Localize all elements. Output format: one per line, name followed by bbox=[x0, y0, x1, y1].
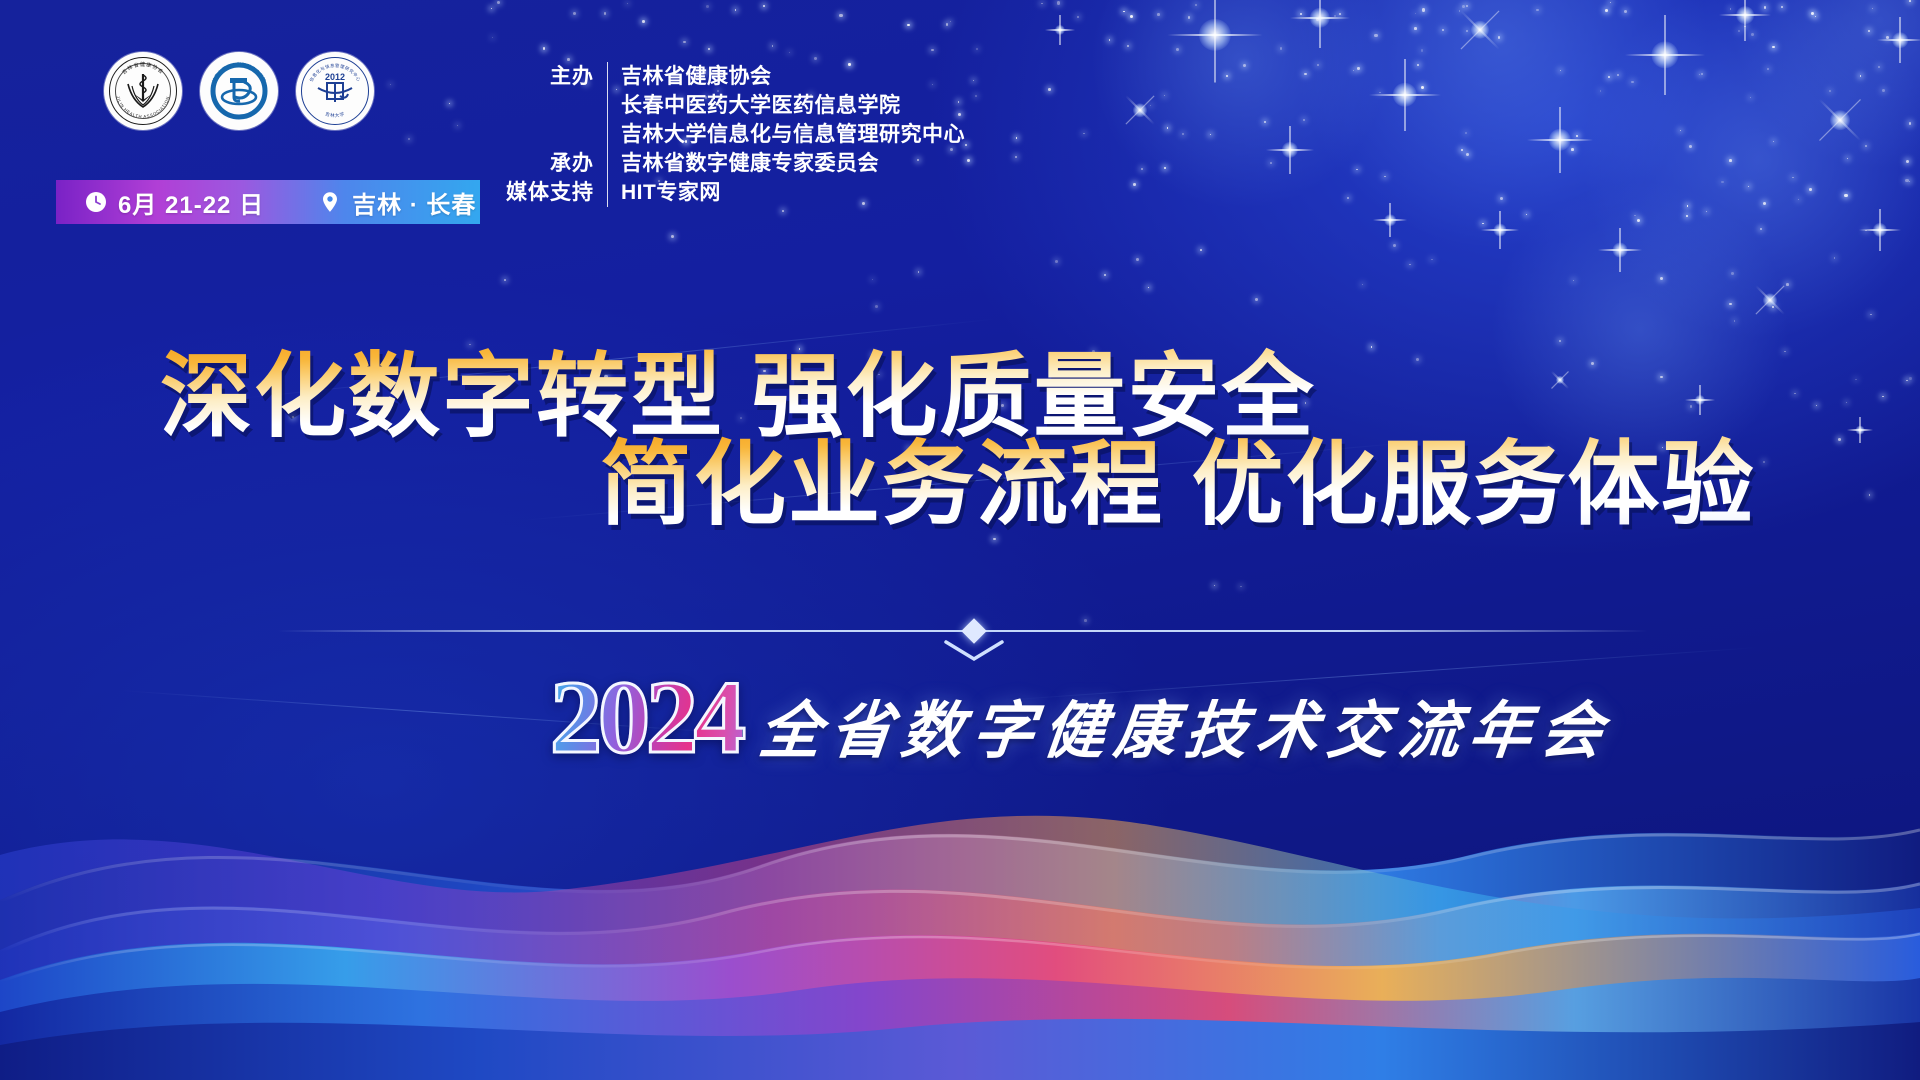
star-dot bbox=[1462, 5, 1465, 8]
star-dot bbox=[1729, 159, 1732, 162]
star-dot bbox=[1270, 162, 1272, 164]
star-dot bbox=[1748, 186, 1749, 187]
svg-text:吉林大学: 吉林大学 bbox=[324, 110, 345, 119]
star-dot bbox=[1214, 585, 1215, 586]
star-dot bbox=[1015, 156, 1017, 158]
star-dot bbox=[1660, 376, 1662, 378]
star-dot bbox=[671, 235, 674, 238]
star-dot bbox=[918, 271, 920, 273]
star-dot bbox=[975, 95, 978, 98]
star-dot bbox=[1730, 8, 1732, 10]
star-dot bbox=[1466, 30, 1468, 32]
star-dot bbox=[1417, 64, 1419, 66]
star-dot bbox=[763, 5, 765, 7]
star-dot bbox=[1500, 197, 1503, 200]
star-sparkle-icon bbox=[1625, 15, 1705, 95]
star-dot bbox=[1498, 36, 1501, 39]
conference-banner: 吉林省健康协会 JILIN HEALTH ASSOCIATION bbox=[0, 0, 1920, 1080]
jilin-health-association-logo: 吉林省健康协会 JILIN HEALTH ASSOCIATION bbox=[104, 52, 182, 130]
star-dot bbox=[1870, 314, 1872, 316]
star-dot bbox=[1729, 303, 1731, 305]
star-dot bbox=[1255, 298, 1258, 301]
star-dot bbox=[1422, 8, 1425, 11]
organizer-divider bbox=[607, 178, 608, 207]
star-dot bbox=[1466, 153, 1469, 156]
star-dot bbox=[1882, 396, 1884, 398]
star-dot bbox=[1482, 223, 1484, 225]
star-dot bbox=[1634, 215, 1635, 216]
star-sparkle-icon bbox=[1442, 0, 1518, 68]
star-dot bbox=[1393, 244, 1396, 247]
star-dot bbox=[1347, 197, 1350, 200]
organizer-divider bbox=[607, 91, 608, 120]
star-dot bbox=[1123, 11, 1125, 13]
star-dot bbox=[1909, 122, 1911, 124]
star-dot bbox=[1686, 215, 1688, 217]
organizer-divider bbox=[607, 149, 608, 178]
star-dot bbox=[1909, 181, 1911, 183]
star-dot bbox=[497, 1, 500, 4]
star-dot bbox=[1109, 39, 1111, 41]
star-dot bbox=[1847, 158, 1848, 159]
star-sparkle-icon bbox=[1742, 272, 1799, 329]
star-dot bbox=[1750, 97, 1752, 99]
star-dot bbox=[1362, 284, 1363, 285]
star-dot bbox=[1136, 258, 1139, 261]
star-dot bbox=[1624, 10, 1627, 13]
star-dot bbox=[1906, 380, 1908, 382]
star-sparkle-icon bbox=[1266, 126, 1314, 174]
star-dot bbox=[1416, 358, 1419, 361]
star-haze bbox=[1730, 0, 1920, 170]
map-pin-icon bbox=[318, 190, 342, 214]
star-sparkle-icon bbox=[1847, 417, 1873, 443]
star-dot bbox=[1210, 134, 1211, 135]
star-dot bbox=[1459, 10, 1461, 12]
star-dot bbox=[1838, 438, 1841, 441]
star-dot bbox=[1660, 277, 1663, 280]
star-dot bbox=[1226, 75, 1228, 77]
star-dot bbox=[1280, 47, 1283, 50]
star-dot bbox=[1763, 461, 1765, 463]
organizer-label: 主办 bbox=[498, 62, 594, 91]
star-dot bbox=[1701, 73, 1703, 75]
star-haze bbox=[1580, 0, 1920, 340]
organizer-row: 承办 吉林省数字健康专家委员会 bbox=[498, 149, 965, 178]
star-dot bbox=[1731, 272, 1734, 275]
star-dot bbox=[1243, 64, 1246, 67]
star-dot bbox=[1816, 405, 1817, 406]
star-dot bbox=[1421, 49, 1424, 52]
star-dot bbox=[789, 52, 790, 53]
star-dot bbox=[1041, 3, 1043, 5]
star-dot bbox=[973, 80, 975, 82]
star-dot bbox=[1600, 90, 1602, 92]
headline-line-2: 简化业务流程 优化服务体验 bbox=[600, 410, 1756, 543]
star-dot bbox=[1605, 9, 1608, 12]
star-dot bbox=[1798, 199, 1799, 200]
star-dot bbox=[1304, 73, 1307, 76]
star-dot bbox=[1608, 76, 1610, 78]
star-dot bbox=[1374, 34, 1377, 37]
star-dot bbox=[1772, 46, 1775, 49]
star-dot bbox=[408, 138, 410, 140]
star-dot bbox=[1906, 160, 1909, 163]
star-dot bbox=[976, 48, 979, 51]
star-dot bbox=[839, 14, 842, 17]
star-dot bbox=[1829, 90, 1831, 92]
star-dot bbox=[1055, 260, 1058, 263]
star-dot bbox=[1409, 264, 1411, 266]
star-dot bbox=[1421, 86, 1424, 89]
organizer-row: 长春中医药大学医药信息学院 bbox=[498, 91, 965, 120]
event-date: 6月 21-22 日 bbox=[118, 185, 264, 220]
star-dot bbox=[1809, 188, 1812, 191]
star-dot bbox=[1461, 149, 1463, 151]
star-sparkle-icon bbox=[1369, 59, 1441, 131]
star-dot bbox=[390, 84, 391, 85]
star-dot bbox=[492, 37, 493, 38]
star-dot bbox=[1689, 145, 1692, 148]
star-dot bbox=[1083, 133, 1084, 134]
star-dot bbox=[1631, 81, 1634, 84]
star-dot bbox=[1431, 259, 1433, 261]
star-dot bbox=[642, 20, 645, 23]
star-dot bbox=[1784, 351, 1786, 353]
star-dot bbox=[1188, 16, 1190, 18]
star-dot bbox=[1182, 133, 1184, 135]
star-dot bbox=[1466, 5, 1468, 7]
star-dot bbox=[1869, 494, 1871, 496]
organizer-value: 长春中医药大学医药信息学院 bbox=[621, 91, 901, 120]
star-dot bbox=[1744, 26, 1746, 28]
star-dot bbox=[1303, 119, 1305, 121]
star-dot bbox=[1559, 340, 1561, 342]
star-dot bbox=[1721, 181, 1723, 183]
star-dot bbox=[1855, 379, 1857, 381]
star-dot bbox=[1316, 18, 1319, 21]
star-dot bbox=[1371, 346, 1373, 348]
star-haze bbox=[1090, 0, 1390, 210]
star-dot bbox=[1690, 405, 1693, 408]
star-sparkle-icon bbox=[1598, 228, 1642, 272]
organizer-row: 媒体支持 HIT专家网 bbox=[498, 178, 965, 207]
star-dot bbox=[1815, 16, 1816, 17]
svg-text:吉林省健康协会: 吉林省健康协会 bbox=[121, 61, 166, 76]
star-dot bbox=[1048, 88, 1051, 91]
star-dot bbox=[1150, 105, 1151, 106]
star-sparkle-icon bbox=[1543, 363, 1577, 397]
star-dot bbox=[1164, 167, 1166, 169]
star-dot bbox=[1846, 402, 1847, 403]
organizer-row: 主办 吉林省健康协会 bbox=[498, 62, 965, 91]
star-dot bbox=[1016, 137, 1018, 139]
star-dot bbox=[1763, 202, 1766, 205]
star-dot bbox=[1465, 132, 1467, 134]
star-dot bbox=[931, 49, 933, 51]
star-dot bbox=[1164, 95, 1165, 96]
star-dot bbox=[1353, 70, 1354, 71]
star-dot bbox=[1860, 75, 1862, 77]
star-dot bbox=[1680, 130, 1681, 131]
star-dot bbox=[1167, 127, 1169, 129]
star-dot bbox=[1786, 283, 1789, 286]
star-dot bbox=[1157, 13, 1160, 16]
star-sparkle-icon bbox=[1112, 82, 1169, 139]
star-dot bbox=[1699, 74, 1700, 75]
star-dot bbox=[1057, 1, 1060, 4]
star-dot bbox=[1560, 70, 1561, 71]
star-dot bbox=[627, 3, 628, 4]
star-dot bbox=[1300, 13, 1302, 15]
star-sparkle-icon bbox=[1719, 0, 1771, 41]
star-dot bbox=[1573, 280, 1574, 281]
star-dot bbox=[567, 58, 570, 61]
star-dot bbox=[1909, 0, 1911, 2]
star-dot bbox=[1734, 320, 1736, 322]
star-dot bbox=[1706, 211, 1707, 212]
clock-icon bbox=[84, 190, 108, 214]
star-dot bbox=[1764, 6, 1766, 8]
star-haze bbox=[1290, 0, 1710, 250]
star-dot bbox=[1148, 287, 1149, 288]
wave-ribbon-decoration bbox=[0, 650, 1920, 1080]
star-dot bbox=[1882, 89, 1885, 92]
organizer-value: 吉林大学信息化与信息管理研究中心 bbox=[621, 120, 965, 149]
star-sparkle-icon bbox=[1373, 203, 1407, 237]
star-dot bbox=[1909, 377, 1912, 380]
star-dot bbox=[1865, 145, 1867, 147]
star-dot bbox=[604, 12, 606, 14]
star-dot bbox=[1617, 74, 1619, 76]
star-dot bbox=[1591, 362, 1594, 365]
star-dot bbox=[1872, 8, 1874, 10]
star-dot bbox=[1767, 68, 1769, 70]
star-dot bbox=[1792, 177, 1794, 179]
star-dot bbox=[1176, 48, 1179, 51]
star-sparkle-icon bbox=[1799, 79, 1881, 161]
star-dot bbox=[449, 103, 450, 104]
star-dot bbox=[1084, 619, 1087, 622]
svg-text:2012: 2012 bbox=[325, 72, 345, 82]
organizer-value: 吉林省数字健康专家委员会 bbox=[621, 149, 879, 178]
star-dot bbox=[543, 47, 546, 50]
star-dot bbox=[1264, 121, 1266, 123]
star-sparkle-icon bbox=[1290, 0, 1350, 48]
star-dot bbox=[708, 48, 710, 50]
star-dot bbox=[1357, 67, 1359, 69]
star-dot bbox=[1356, 169, 1358, 171]
star-dot bbox=[1127, 45, 1129, 47]
star-dot bbox=[1317, 64, 1319, 66]
star-sparkle-icon bbox=[1859, 209, 1901, 251]
star-dot bbox=[1130, 15, 1133, 18]
star-dot bbox=[1886, 36, 1889, 39]
star-dot bbox=[1738, 30, 1740, 32]
star-dot bbox=[1865, 230, 1866, 231]
star-dot bbox=[683, 41, 686, 44]
organizer-row: 吉林大学信息化与信息管理研究中心 bbox=[498, 120, 965, 149]
star-dot bbox=[1794, 393, 1795, 394]
star-dot bbox=[1339, 13, 1341, 15]
star-dot bbox=[1104, 274, 1106, 276]
star-dot bbox=[875, 305, 878, 308]
star-dot bbox=[1773, 141, 1775, 143]
star-dot bbox=[965, 144, 967, 146]
star-dot bbox=[1878, 66, 1880, 68]
star-dot bbox=[1905, 179, 1908, 182]
star-dot bbox=[1415, 13, 1416, 14]
organizer-label: 媒体支持 bbox=[498, 178, 594, 207]
star-dot bbox=[1834, 257, 1835, 258]
star-dot bbox=[1781, 6, 1783, 8]
star-dot bbox=[1844, 194, 1847, 197]
star-dot bbox=[1133, 183, 1136, 186]
star-sparkle-icon bbox=[1168, 0, 1263, 83]
event-meta-bar: 6月 21-22 日 吉林 · 长春 bbox=[56, 180, 480, 224]
organizer-value: HIT专家网 bbox=[621, 178, 721, 207]
star-dot bbox=[907, 24, 910, 27]
star-dot bbox=[1610, 2, 1611, 3]
star-dot bbox=[814, 57, 817, 60]
star-dot bbox=[1536, 9, 1539, 12]
star-dot bbox=[1687, 205, 1688, 206]
star-dot bbox=[1442, 29, 1444, 31]
star-dot bbox=[1772, 306, 1775, 309]
star-dot bbox=[1637, 219, 1640, 222]
star-dot bbox=[1760, 228, 1762, 230]
star-sparkle-icon bbox=[1527, 107, 1593, 173]
star-dot bbox=[1077, 16, 1079, 18]
star-dot bbox=[1868, 30, 1870, 32]
star-dot bbox=[1811, 12, 1814, 15]
star-dot bbox=[1384, 176, 1386, 178]
star-dot bbox=[1576, 135, 1578, 137]
organizer-list: 主办 吉林省健康协会 长春中医药大学医药信息学院 吉林大学信息化与信息管理研究中… bbox=[498, 62, 965, 207]
star-dot bbox=[573, 12, 576, 15]
star-dot bbox=[782, 210, 784, 212]
star-dot bbox=[1200, 249, 1202, 251]
star-sparkle-icon bbox=[1877, 17, 1920, 63]
star-dot bbox=[1414, 27, 1417, 30]
star-dot bbox=[967, 159, 970, 162]
star-dot bbox=[1240, 586, 1242, 588]
organizer-value: 吉林省健康协会 bbox=[621, 62, 772, 91]
star-sparkle-icon bbox=[1045, 15, 1075, 45]
star-dot bbox=[457, 125, 458, 126]
star-dot bbox=[872, 279, 874, 281]
star-dot bbox=[491, 8, 492, 9]
star-dot bbox=[735, 9, 736, 10]
star-sparkle-icon bbox=[1481, 211, 1519, 249]
changchun-tcm-medical-information-logo: 长春中医药大学医药信息学院 SCHOOL OF MEDICAL INFORMAT… bbox=[200, 52, 278, 130]
star-dot bbox=[772, 45, 774, 47]
star-dot bbox=[1141, 168, 1143, 170]
star-dot bbox=[946, 23, 948, 25]
star-dot bbox=[706, 5, 709, 8]
star-dot bbox=[1526, 214, 1527, 215]
organizer-divider bbox=[607, 62, 608, 91]
star-dot bbox=[1334, 15, 1336, 17]
star-dot bbox=[1571, 148, 1574, 151]
star-dot bbox=[1379, 92, 1381, 94]
organizer-divider bbox=[607, 120, 608, 149]
event-location: 吉林 · 长春 bbox=[352, 185, 476, 220]
jilin-university-informatization-center-logo: 信息化与信息管理研究中心 吉林大学 2012 bbox=[296, 52, 374, 130]
star-dot bbox=[1195, 4, 1197, 6]
organizer-logo-row: 吉林省健康协会 JILIN HEALTH ASSOCIATION bbox=[104, 52, 374, 130]
star-dot bbox=[504, 279, 506, 281]
organizer-label: 承办 bbox=[498, 149, 594, 178]
star-dot bbox=[950, 21, 952, 23]
star-dot bbox=[1751, 33, 1754, 36]
